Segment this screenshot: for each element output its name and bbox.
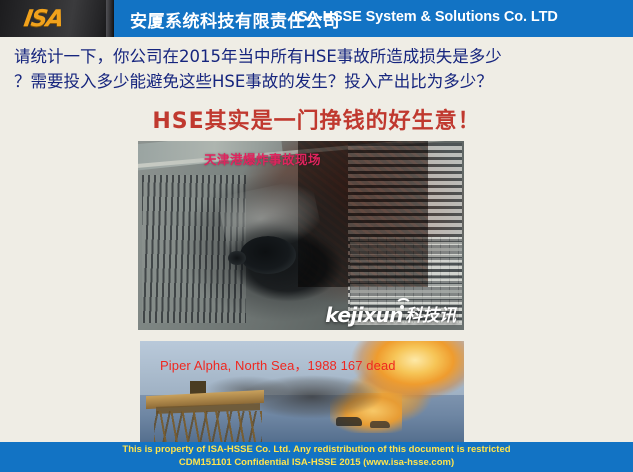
company-name-en: ISA-HSSE System & Solutions Co. LTD [294,9,558,25]
blast-crater-secondary [228,251,246,265]
platform-legs [154,411,262,445]
blast-crater [240,236,296,274]
footer-document-line: CDM151101 Confidential ISA-HSSE 2015 (ww… [0,457,633,468]
tianjin-explosion-image: 天津港爆炸事故现场 kejixun 科技讯 [138,141,464,330]
watermark-latin: kejixun [325,305,403,325]
slide-header: ISA 安厦系统科技有限责任公司 ISA-HSSE System & Solut… [0,0,633,37]
tianjin-image-caption: 天津港爆炸事故现场 [204,149,321,168]
piper-alpha-image: Piper Alpha, North Sea，1988 167 dead [140,341,464,447]
question-line-2: ？需要投入多少能避免这些HSE事故的发生？投入产出比为多少？ [14,69,622,94]
kejixun-watermark: kejixun 科技讯 [325,305,456,325]
header-logo-panel: ISA [0,0,114,37]
isa-logo: ISA [22,8,64,31]
rescue-boat-secondary [370,421,390,428]
page-title: HSE其实是一门挣钱的好生意！ [0,103,633,135]
rescue-boat [336,417,362,426]
watermark-cn: 科技讯 [405,308,456,325]
question-line-1: 请统计一下，你公司在2015年当中所有HSE事故所造成损失是多少 [14,44,622,69]
oil-platform [146,385,266,443]
question-paragraph: 请统计一下，你公司在2015年当中所有HSE事故所造成损失是多少 ？需要投入多少… [14,44,622,94]
piper-alpha-caption: Piper Alpha, North Sea，1988 167 dead [160,355,396,374]
header-title-bar: 安厦系统科技有限责任公司 ISA-HSSE System & Solutions… [114,0,633,37]
footer-copyright-line: This is property of ISA-HSSE Co. Ltd. An… [0,444,633,455]
slide-canvas: ISA 安厦系统科技有限责任公司 ISA-HSSE System & Solut… [0,0,633,472]
slide-footer: This is property of ISA-HSSE Co. Ltd. An… [0,442,633,472]
